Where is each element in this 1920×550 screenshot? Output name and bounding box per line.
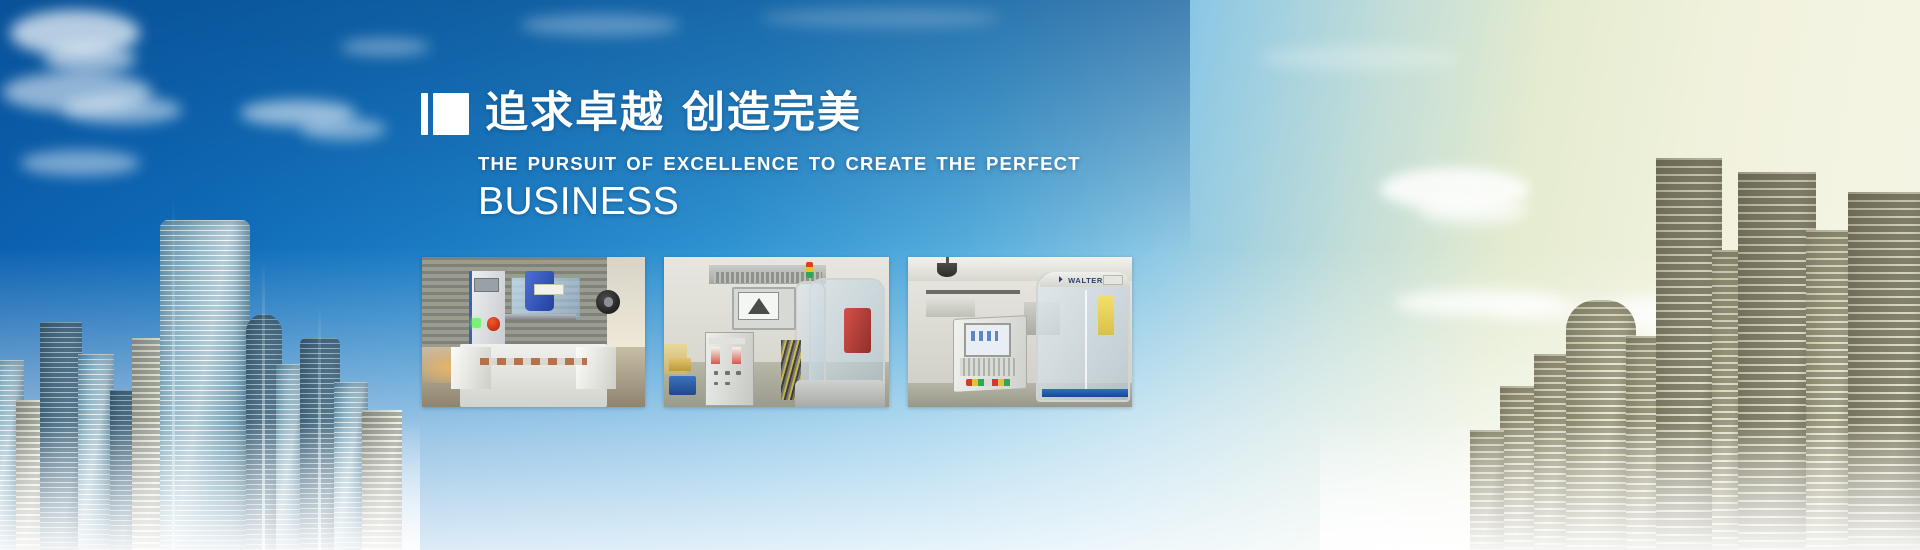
power-indicator-light	[472, 318, 481, 328]
spire	[172, 198, 175, 550]
building	[40, 322, 82, 550]
cabinet-button	[736, 371, 741, 375]
building	[78, 354, 114, 550]
cloud-icon	[340, 38, 430, 56]
banner-copy: 追求卓越 创造完美 THEPURSUITOFEXCELLENCETOCREATE…	[421, 92, 1121, 223]
subhead-word: THE	[478, 153, 519, 174]
logo-bar-block-mark-icon	[421, 93, 469, 135]
subhead-word: OF	[626, 153, 654, 174]
screen-triangle-graphic	[748, 298, 770, 314]
warning-label	[534, 284, 565, 295]
cloud-icon	[44, 44, 136, 74]
cloud-icon	[760, 8, 1000, 28]
internal-red-assembly	[844, 308, 871, 353]
machine-table	[496, 314, 576, 320]
cardboard-box	[669, 358, 692, 372]
building	[362, 410, 402, 550]
cloud-icon	[62, 96, 182, 124]
machine-base-left-panel	[451, 347, 491, 389]
subhead-word: PERFECT	[986, 153, 1081, 174]
wall-equipment	[926, 299, 975, 317]
screen-bar-graphic	[971, 331, 998, 342]
cabinet-button	[725, 371, 730, 375]
machine-brand-walter: WALTER	[1068, 276, 1103, 285]
workpiece-row	[480, 358, 587, 366]
ceiling-lamp-icon	[937, 263, 957, 277]
emergency-stop-button	[487, 317, 500, 331]
console-keypad	[960, 358, 1016, 376]
subheadline-english: THEPURSUITOFEXCELLENCETOCREATETHEPERFECT	[478, 153, 1121, 175]
logo-bar-icon	[421, 93, 428, 135]
building	[1470, 430, 1504, 550]
cabinet-button	[714, 371, 719, 375]
wall-beam	[926, 290, 1020, 294]
subhead-word: EXCELLENCE	[663, 153, 799, 174]
spire	[262, 260, 265, 550]
subhead-word: CREATE	[845, 153, 927, 174]
cabinet-indicator-strip	[711, 347, 720, 364]
subhead-word: TO	[809, 153, 837, 174]
cabinet-indicator-strip	[732, 347, 741, 364]
building-tall-tower	[1738, 172, 1816, 550]
machine-base-right-panel	[576, 347, 616, 389]
building	[1848, 192, 1920, 550]
console-button-row	[966, 379, 1011, 387]
machine-base	[1040, 395, 1130, 407]
machine-photo-coborn	[664, 257, 889, 407]
headline-row: 追求卓越 创造完美	[421, 92, 1121, 135]
machine-badge	[1103, 275, 1123, 285]
logo-block-icon	[433, 93, 469, 135]
internal-yellow-panel	[1098, 296, 1114, 335]
machine-enclosure	[1036, 272, 1130, 402]
cloud-icon	[520, 14, 680, 36]
machine-photo-surface-grinder	[422, 257, 645, 407]
spire	[318, 304, 321, 550]
blue-crate	[669, 376, 696, 396]
machine-photo-strip: WALTER	[422, 257, 1132, 407]
skyline-right	[1320, 80, 1920, 550]
machine-base	[795, 380, 885, 407]
cabinet-brand-label	[709, 338, 745, 344]
subhead-word: THE	[936, 153, 977, 174]
enclosure-door-edge	[1085, 290, 1087, 389]
headline-chinese: 追求卓越 创造完美	[485, 92, 862, 135]
panel-display	[474, 278, 498, 292]
hero-banner: 追求卓越 创造完美 THEPURSUITOFEXCELLENCETOCREATE…	[0, 0, 1920, 550]
subhead-word: PURSUIT	[528, 153, 618, 174]
machine-photo-walter: WALTER	[908, 257, 1132, 407]
cloud-icon	[1260, 46, 1460, 70]
skyline-left	[0, 130, 420, 550]
business-word: BUSINESS	[478, 182, 1121, 223]
cabinet-button	[725, 382, 730, 386]
signal-tower-light	[806, 262, 813, 279]
